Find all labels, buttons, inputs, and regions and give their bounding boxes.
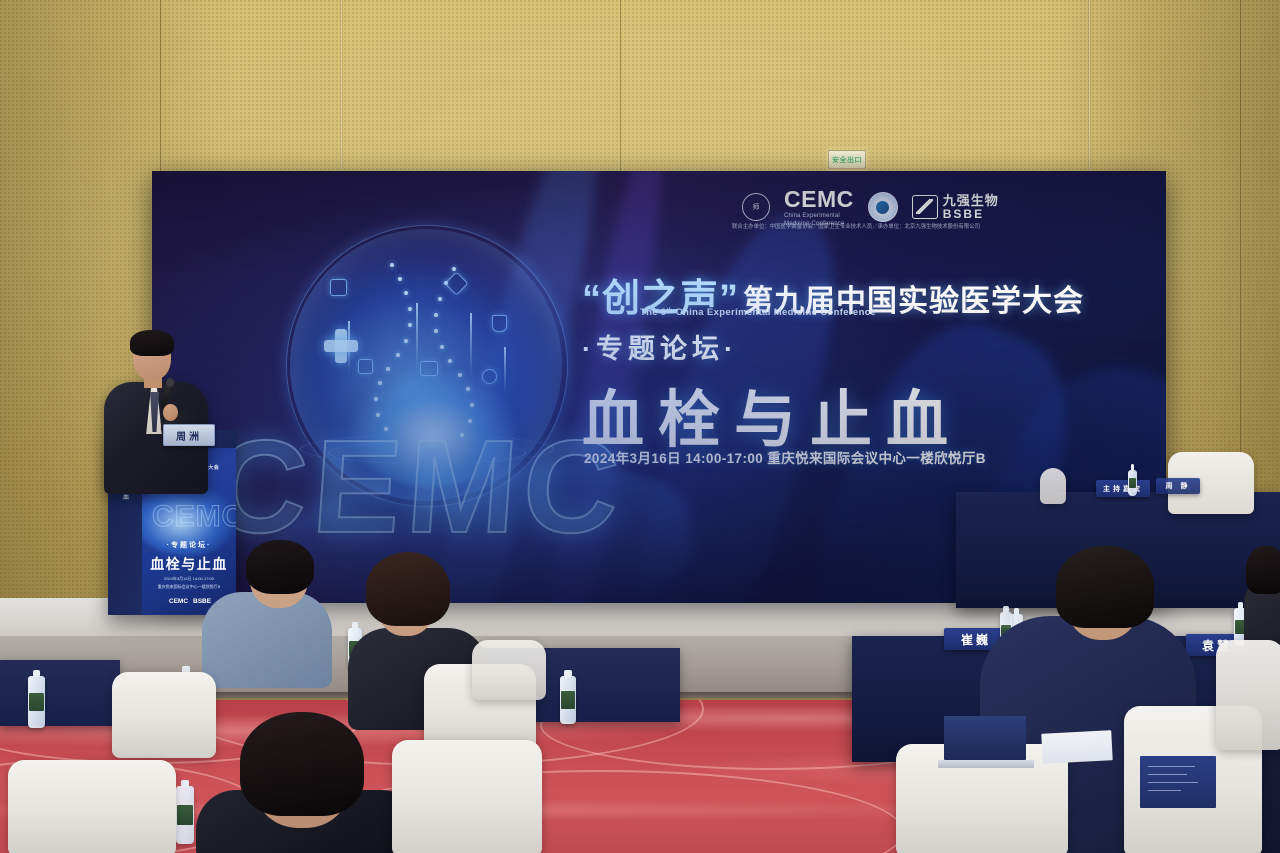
audience-chair (1216, 640, 1280, 750)
handout-booklet (1140, 756, 1216, 808)
name-card-zhoujing: 周 静 (1156, 478, 1200, 494)
microphone-head-icon (166, 378, 174, 387)
audience-chair (392, 740, 542, 853)
water-bottle (1128, 470, 1137, 496)
exit-sign: 安全出口 (828, 150, 866, 169)
podium-nameplate: 周洲 (163, 424, 215, 446)
podium-forum-label: ·专题论坛· (142, 540, 236, 550)
conference-photo: 安全出口 (0, 0, 1280, 853)
name-card-zhoujing-label: 周 静 (1166, 481, 1191, 491)
podium-cemc-watermark: CEMC (152, 500, 236, 534)
document-paper (1041, 730, 1112, 764)
audience-chair (472, 640, 546, 700)
speaker-hand (163, 404, 178, 421)
name-card-host-label: 主持嘉宾 (1103, 484, 1143, 494)
audience-chair (8, 760, 176, 853)
speaker-hair (130, 330, 174, 356)
podium-topic: 血栓与止血 (142, 554, 236, 574)
podium-meta-1: 2024年3月16日 14:00-17:00 (142, 576, 236, 582)
water-bottle (28, 676, 45, 728)
audience-desk (0, 660, 120, 726)
podium-logo-bsbe: BSBE (193, 598, 211, 605)
audience-chair (112, 672, 216, 758)
podium-meta-2: 重庆悦来国际会议中心一楼欣悦厅B (142, 584, 236, 590)
executive-chair (1040, 468, 1066, 504)
water-bottle (176, 786, 194, 844)
exit-sign-label: 安全出口 (832, 155, 862, 165)
podium-nameplate-label: 周洲 (176, 428, 202, 443)
name-card-host: 主持嘉宾 (1096, 480, 1150, 497)
water-bottle (560, 676, 576, 724)
name-card-cuiwei-label: 崔巍 (961, 631, 991, 648)
podium-logo-cemc: CEMC (169, 598, 188, 605)
